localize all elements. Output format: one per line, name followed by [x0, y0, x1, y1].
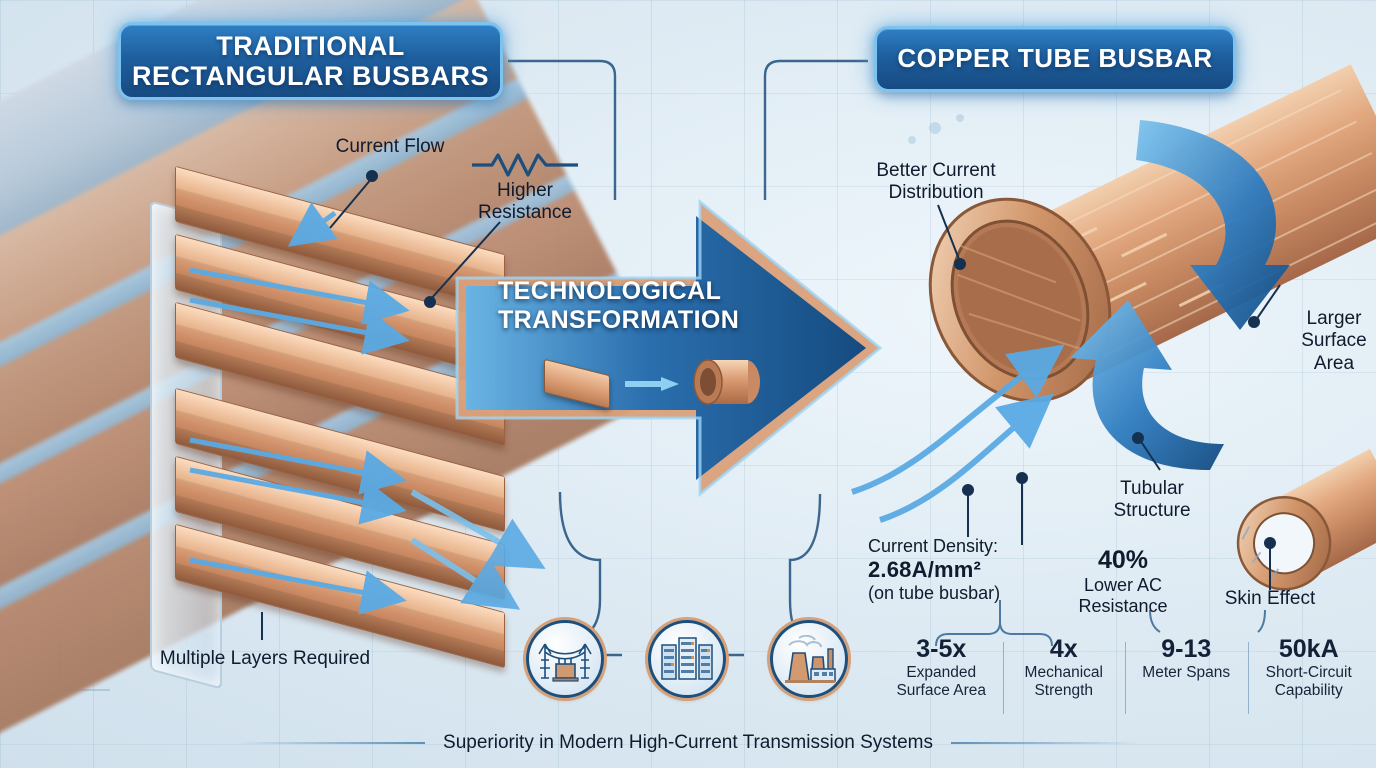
current-density-note: (on tube busbar): [868, 583, 1038, 604]
stat-value: 50kA: [1248, 636, 1371, 662]
stat-item: 3-5x Expanded Surface Area: [880, 636, 1003, 720]
right-arrow-icon: [625, 377, 679, 391]
stat-value: 4x: [1003, 636, 1126, 662]
current-density-label: Current Density:: [868, 536, 1038, 557]
stat-label: Expanded Surface Area: [880, 664, 1003, 699]
stat-item: 4x Mechanical Strength: [1003, 636, 1126, 720]
rectangular-bar-icon: [544, 359, 610, 409]
label-tubular-structure: Tubular Structure: [1098, 478, 1206, 523]
copper-tube-icon: [688, 357, 766, 407]
caption-rule-right: [951, 742, 1141, 744]
technological-transformation-arrow: TECHNOLOGICAL TRANSFORMATION: [440, 195, 900, 495]
resistor-zigzag-icon: [470, 152, 580, 178]
powerplant-icon: [770, 620, 848, 698]
footer-caption: Superiority in Modern High-Current Trans…: [0, 732, 1376, 754]
stat-label: Mechanical Strength: [1003, 664, 1126, 699]
label-multiple-layers: Multiple Layers Required: [120, 648, 410, 670]
infographic-canvas: TECHNOLOGICAL TRANSFORMATION: [0, 0, 1376, 768]
caption-text: Superiority in Modern High-Current Trans…: [443, 732, 933, 754]
label-skin-effect: Skin Effect: [1214, 588, 1326, 610]
datacenter-icon: [648, 620, 726, 698]
stat-value: 3-5x: [880, 636, 1003, 662]
substation-icon: [526, 620, 604, 698]
caption-rule-left: [235, 742, 425, 744]
label-larger-surface-area: Larger Surface Area: [1292, 308, 1376, 375]
stat-label: Short-Circuit Capability: [1248, 664, 1371, 699]
ac-resistance-block: 40% Lower AC Resistance: [1060, 546, 1186, 617]
banner-copper-tube-busbar[interactable]: COPPER TUBE BUSBAR: [874, 26, 1236, 92]
banner-traditional-busbars[interactable]: TRADITIONAL RECTANGULAR BUSBARS: [118, 22, 503, 100]
stat-value: 9-13: [1125, 636, 1248, 662]
label-higher-resistance: Higher Resistance: [462, 180, 588, 225]
stat-label: Meter Spans: [1125, 664, 1248, 682]
banner-left-text: TRADITIONAL RECTANGULAR BUSBARS: [121, 31, 500, 91]
label-better-current-distribution: Better Current Distribution: [862, 160, 1010, 205]
ac-resistance-value: 40%: [1060, 546, 1186, 575]
arrow-title: TECHNOLOGICAL TRANSFORMATION: [498, 277, 768, 335]
label-current-flow: Current Flow: [330, 136, 450, 158]
ac-resistance-text: Lower AC Resistance: [1060, 575, 1186, 617]
banner-right-text: COPPER TUBE BUSBAR: [897, 44, 1212, 73]
stat-item: 50kA Short-Circuit Capability: [1248, 636, 1371, 720]
stat-item: 9-13 Meter Spans: [1125, 636, 1248, 720]
current-density-block: Current Density: 2.68A/mm² (on tube busb…: [868, 536, 1038, 604]
statistics-row: 3-5x Expanded Surface Area 4x Mechanical…: [880, 636, 1370, 720]
current-density-value: 2.68A/mm²: [868, 557, 1038, 583]
application-icons-row: [522, 616, 852, 708]
